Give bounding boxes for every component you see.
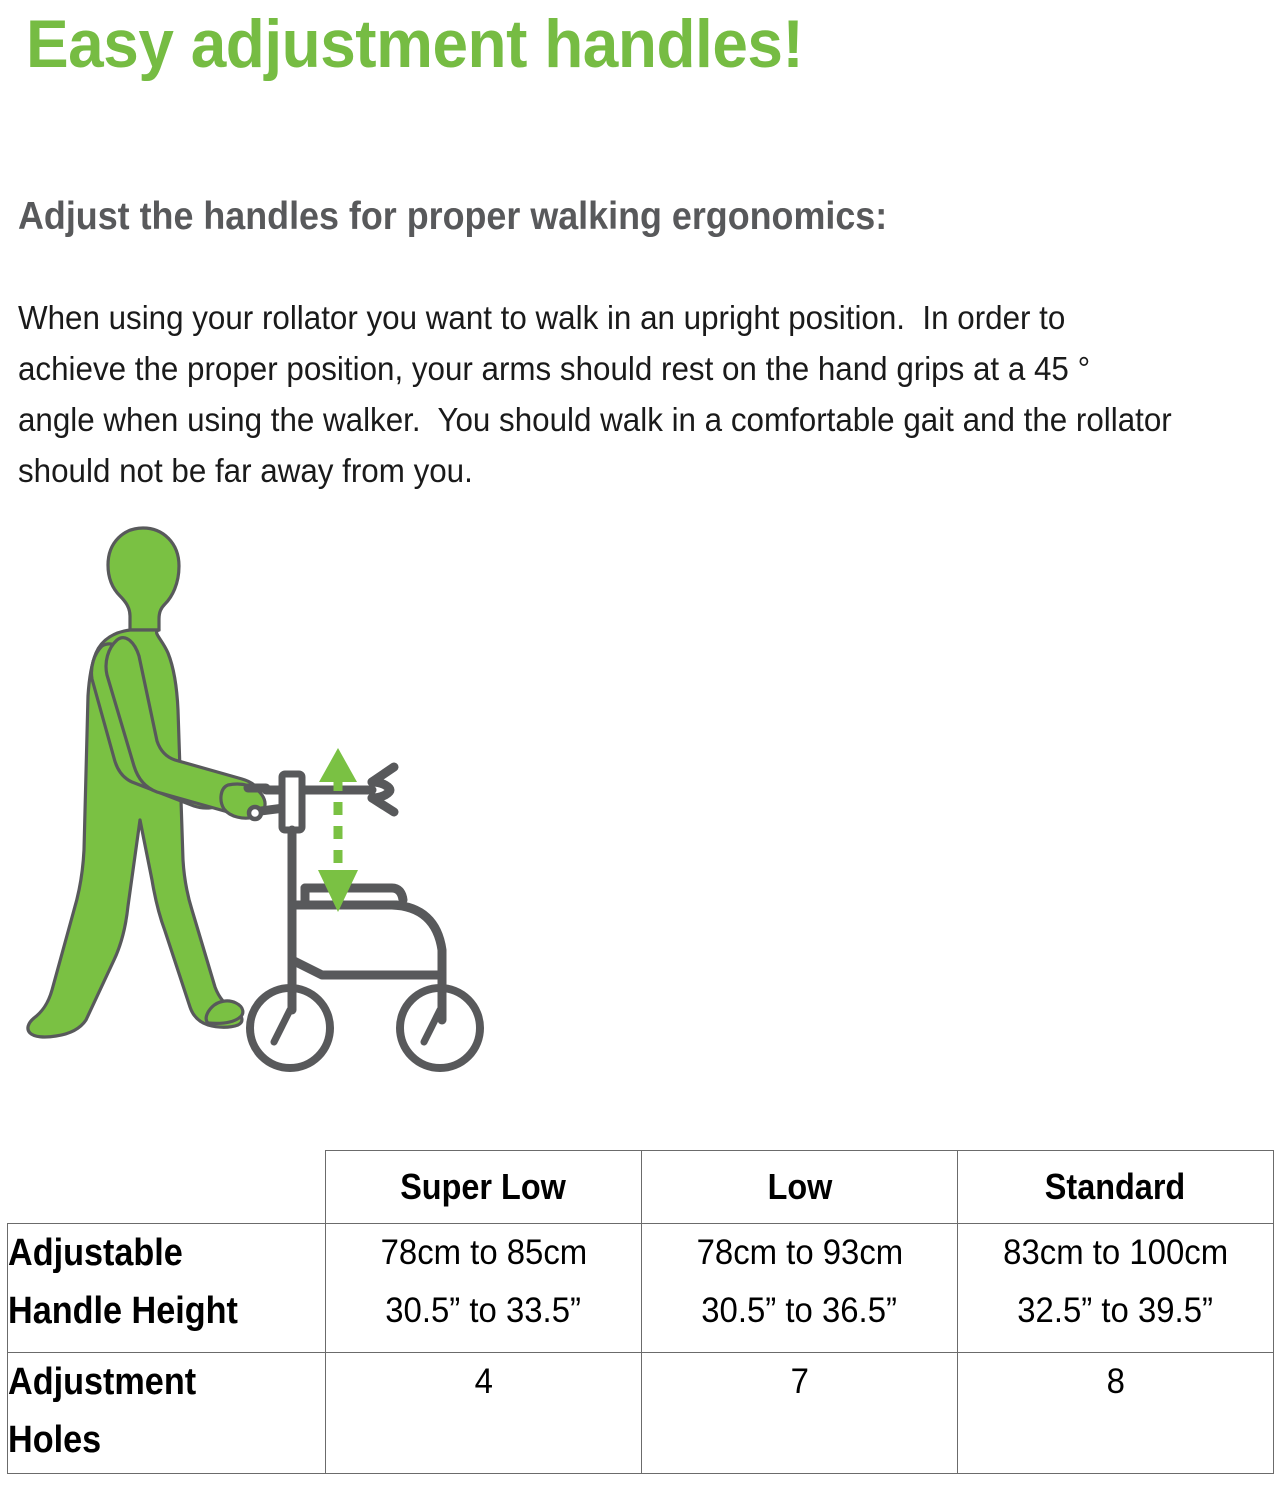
table-header-standard: Standard [958, 1151, 1274, 1224]
cell-line1: 78cm to 85cm [380, 1224, 587, 1282]
cell-handle-height-standard: 83cm to 100cm 32.5” to 39.5” [958, 1224, 1274, 1353]
table-header-super-low: Super Low [326, 1151, 642, 1224]
cell-line1: 4 [474, 1353, 492, 1411]
row-label-adjustable-handle-height: Adjustable Handle Height [8, 1224, 326, 1353]
cell-line2: 30.5” to 33.5” [386, 1282, 582, 1340]
cell-line2: 30.5” to 36.5” [702, 1282, 898, 1340]
cell-handle-height-super-low: 78cm to 85cm 30.5” to 33.5” [326, 1224, 642, 1353]
handle-height-spec-table: Super Low Low Standard Adjustable Handle… [7, 1150, 1274, 1474]
ergonomics-illustration [22, 520, 542, 1100]
table-header-label: Standard [1045, 1151, 1185, 1223]
cell-holes-standard: 8 [958, 1353, 1274, 1474]
section-subheading: Adjust the handles for proper walking er… [18, 194, 1159, 240]
cell-line2: 32.5” to 39.5” [1018, 1282, 1214, 1340]
table-header-label: Low [767, 1151, 832, 1223]
table-header-row: Super Low Low Standard [8, 1151, 1274, 1224]
cell-handle-height-low: 78cm to 93cm 30.5” to 36.5” [642, 1224, 958, 1353]
table-corner-cell [8, 1151, 326, 1224]
table-row-adjustable-handle-height: Adjustable Handle Height 78cm to 85cm 30… [8, 1224, 1274, 1353]
table-header-low: Low [642, 1151, 958, 1224]
row-label-line1: Adjustable [8, 1224, 183, 1282]
cell-line1: 7 [790, 1353, 808, 1411]
cell-line1: 83cm to 100cm [1003, 1224, 1228, 1282]
cell-holes-low: 7 [642, 1353, 958, 1474]
page-title: Easy adjustment handles! [26, 6, 1182, 82]
rollator-walker-icon [248, 767, 480, 1068]
cell-line1: 78cm to 93cm [696, 1224, 903, 1282]
body-paragraph: When using your rollator you want to wal… [18, 292, 1172, 496]
table-header-label: Super Low [401, 1151, 567, 1223]
row-label-line2: Handle Height [8, 1282, 238, 1340]
cell-line1: 8 [1106, 1353, 1124, 1411]
row-label-adjustment-holes: Adjustment Holes [8, 1353, 326, 1474]
walking-person-silhouette-icon [28, 528, 265, 1037]
row-label-line2: Holes [8, 1411, 101, 1469]
cell-holes-super-low: 4 [326, 1353, 642, 1474]
row-label-line1: Adjustment [8, 1353, 196, 1411]
table-row-adjustment-holes: Adjustment Holes 4 7 8 [8, 1353, 1274, 1474]
